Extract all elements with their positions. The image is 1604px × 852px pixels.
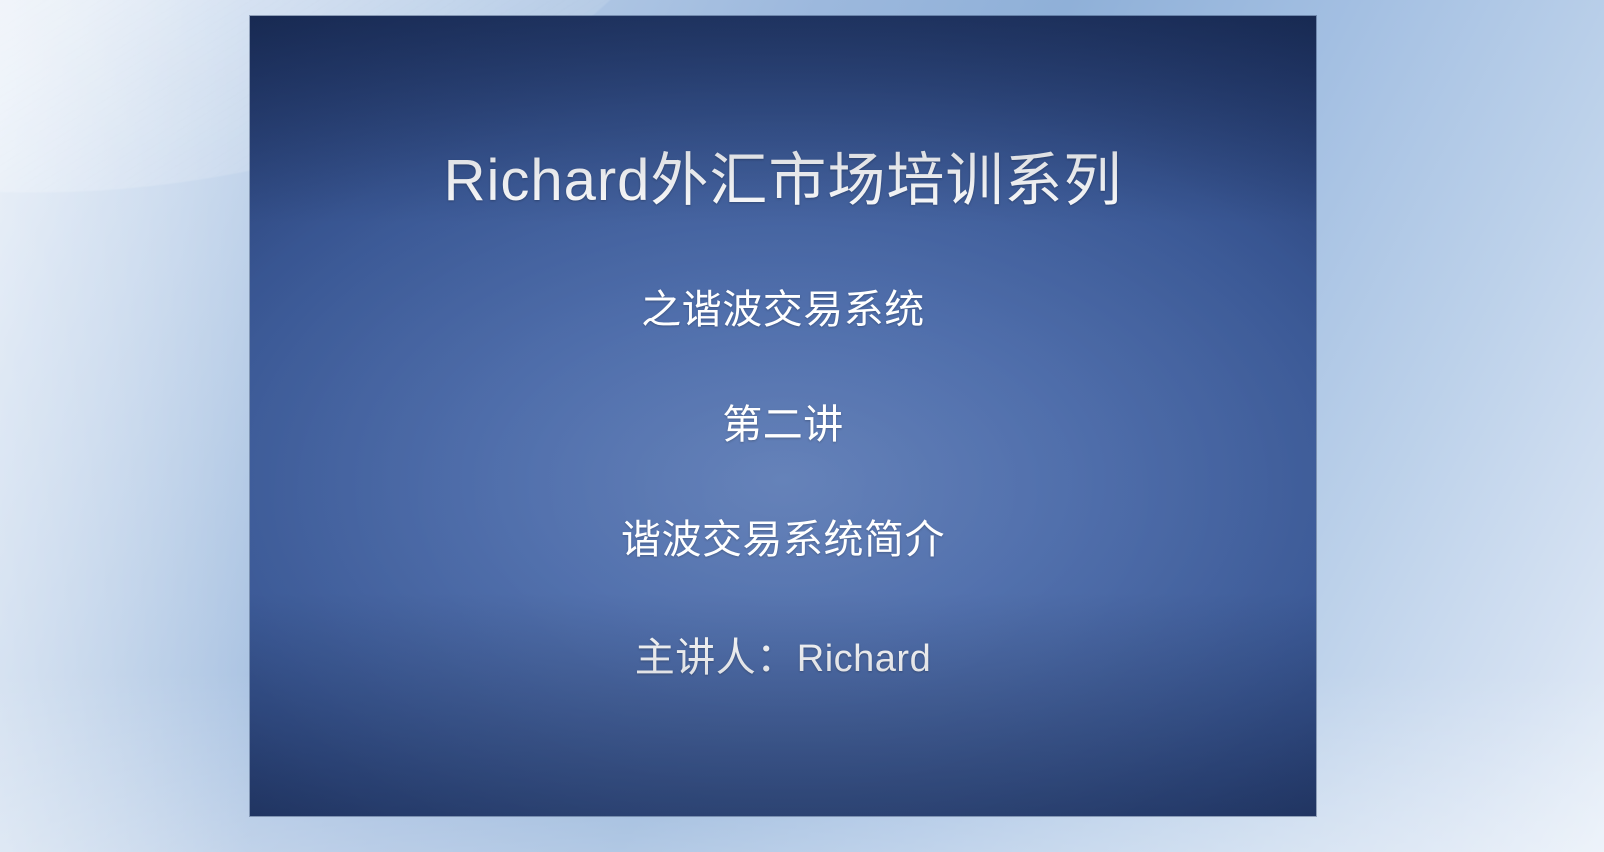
- slide-subtitle-series: 之谐波交易系统: [250, 286, 1316, 334]
- background-left-highlight: [0, 0, 250, 852]
- slide-presenter-line: 主讲人：Richard: [250, 634, 1316, 683]
- presentation-stage: Richard外汇市场培训系列 之谐波交易系统 第二讲 谐波交易系统简介 主讲人…: [0, 0, 1604, 852]
- slide-panel: Richard外汇市场培训系列 之谐波交易系统 第二讲 谐波交易系统简介 主讲人…: [250, 16, 1316, 816]
- presenter-name: Richard: [797, 638, 931, 680]
- slide-title: Richard外汇市场培训系列: [250, 146, 1316, 216]
- slide-subtitle-topic: 谐波交易系统简介: [250, 516, 1316, 564]
- presenter-label: 主讲人：: [635, 635, 797, 680]
- slide-subtitle-lesson-number: 第二讲: [250, 401, 1316, 449]
